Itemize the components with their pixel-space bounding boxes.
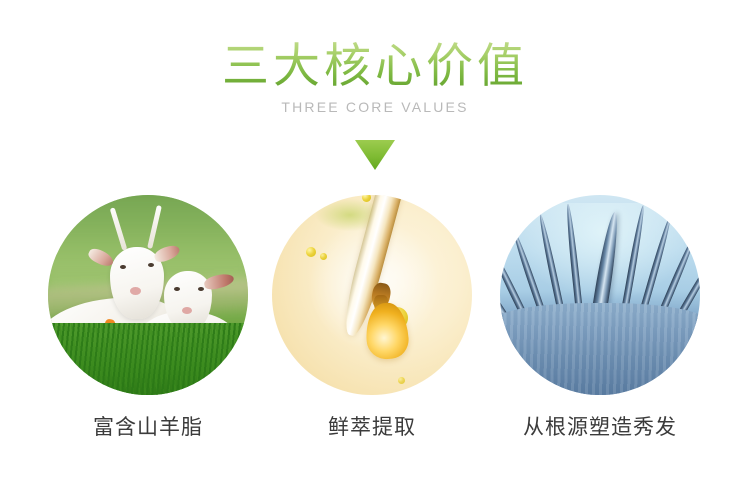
white-goats-on-grass-photo xyxy=(48,195,248,395)
value-captions-row: 富含山羊脂 鲜萃提取 从根源塑造秀发 xyxy=(0,412,750,452)
value-circle-goat-fat xyxy=(48,195,248,395)
page-subtitle: THREE CORE VALUES xyxy=(0,99,750,115)
value-circles-row xyxy=(0,195,750,395)
caption-fresh-extract: 鲜萃提取 xyxy=(262,412,482,444)
oil-bubble-small-4 xyxy=(398,377,405,384)
goat-muzzle-2 xyxy=(182,307,192,314)
page-title: 三大核心价值 xyxy=(0,38,750,94)
blue-hair-follicle-render xyxy=(500,195,700,395)
goat-muzzle-1 xyxy=(130,287,141,295)
arrow-container xyxy=(0,140,750,174)
foreground-grass xyxy=(48,323,248,395)
value-circle-hair-from-root xyxy=(500,195,700,395)
scalp-surface xyxy=(500,303,700,395)
golden-oil-dropper-illustration xyxy=(272,195,472,395)
goat-eye-3 xyxy=(174,287,180,291)
goat-eye-4 xyxy=(198,287,204,291)
goat-eye-1 xyxy=(120,265,126,269)
caption-goat-fat: 富含山羊脂 xyxy=(38,412,258,444)
oil-bubble-small-2 xyxy=(320,253,327,260)
value-circle-fresh-extract xyxy=(272,195,472,395)
oil-bubble-small-1 xyxy=(306,247,316,257)
down-triangle-icon xyxy=(355,140,395,170)
caption-hair-from-root: 从根源塑造秀发 xyxy=(490,412,710,444)
goat-eye-2 xyxy=(148,263,154,267)
